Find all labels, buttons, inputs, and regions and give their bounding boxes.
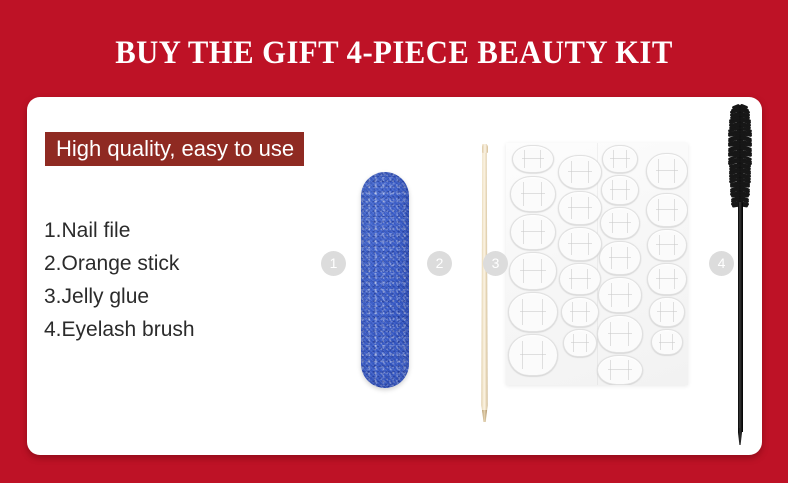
badge-orange-stick: 2 <box>427 251 452 276</box>
glue-tab-bar <box>608 333 633 334</box>
glue-tab-bar <box>520 270 546 271</box>
glue-tab <box>649 297 685 327</box>
badge-eyelash-brush: 4 <box>709 251 734 276</box>
page-title: BUY THE GIFT 4-PIECE BEAUTY KIT <box>28 34 761 72</box>
glue-tab-bar <box>656 244 677 245</box>
glue-tab-bar <box>610 189 630 190</box>
glue-tab <box>512 145 554 173</box>
glue-tab-bar <box>659 342 676 343</box>
glue-tab-bar <box>521 231 546 232</box>
glue-tab <box>647 229 687 261</box>
brush-bristle-head <box>729 105 751 208</box>
glue-tab <box>558 227 602 261</box>
glue-tab-bar <box>609 222 630 223</box>
badge-nail-file: 1 <box>321 251 346 276</box>
glue-tab-bar <box>521 193 546 194</box>
jelly-glue-sheet-image <box>506 143 688 385</box>
glue-tab-bar <box>568 243 592 244</box>
glue-tab-bar <box>571 342 589 343</box>
glue-tab <box>508 334 558 376</box>
glue-tab <box>561 297 599 327</box>
badge-jelly-glue: 3 <box>483 251 508 276</box>
glue-tab-bar <box>609 257 631 258</box>
brush-handle-tip <box>738 428 743 445</box>
nail-file-grain-texture <box>361 172 409 388</box>
glue-tab-bar <box>608 369 633 370</box>
glue-tab-bar <box>568 171 592 172</box>
glue-tab <box>510 176 556 212</box>
quality-banner: High quality, easy to use <box>45 132 304 166</box>
glue-tab <box>600 207 640 239</box>
eyelash-brush-image <box>723 102 757 450</box>
list-item: 1.Nail file <box>44 214 195 247</box>
glue-tab-bar <box>656 209 678 210</box>
glue-tab <box>647 263 687 295</box>
glue-tab <box>559 263 601 295</box>
glue-tab <box>509 252 557 290</box>
glue-tab <box>598 277 642 313</box>
glue-tab-bar <box>520 311 547 312</box>
glue-tab <box>563 329 597 357</box>
orange-stick-image <box>481 144 488 422</box>
nail-file-image <box>361 172 409 388</box>
list-item: 3.Jelly glue <box>44 280 195 313</box>
orange-stick-shaft <box>481 144 488 422</box>
glue-tab <box>558 155 602 189</box>
glue-tab-bar <box>656 170 678 171</box>
glue-tab-bar <box>568 207 592 208</box>
glue-tab-bar <box>522 158 544 159</box>
glue-tab <box>601 175 639 205</box>
glue-tab <box>508 292 558 332</box>
glue-tab <box>651 329 683 355</box>
glue-tab <box>602 145 638 173</box>
glue-tab <box>597 315 643 353</box>
glue-tab-bar <box>608 294 632 295</box>
glue-tab-bar <box>570 311 590 312</box>
glue-tab-bar <box>657 311 676 312</box>
glue-tab <box>599 241 641 275</box>
glue-tab <box>510 214 556 250</box>
glue-tab-bar <box>569 278 591 279</box>
orange-stick-bottom-tip <box>482 410 487 422</box>
glue-tab <box>597 355 643 385</box>
glue-tab-bar <box>610 158 629 159</box>
list-item: 2.Orange stick <box>44 247 195 280</box>
glue-tab <box>646 153 688 189</box>
glue-tab <box>558 191 602 225</box>
content-card: High quality, easy to use 1.Nail file 2.… <box>27 97 762 455</box>
glue-tab-bar <box>656 278 677 279</box>
orange-stick-top-tip <box>482 144 488 153</box>
glue-tab-bar <box>520 354 547 355</box>
list-item: 4.Eyelash brush <box>44 313 195 346</box>
product-infographic: BUY THE GIFT 4-PIECE BEAUTY KIT High qua… <box>0 0 788 495</box>
brush-handle <box>738 202 743 432</box>
feature-list: 1.Nail file 2.Orange stick 3.Jelly glue … <box>44 214 195 346</box>
glue-tab <box>646 193 688 227</box>
